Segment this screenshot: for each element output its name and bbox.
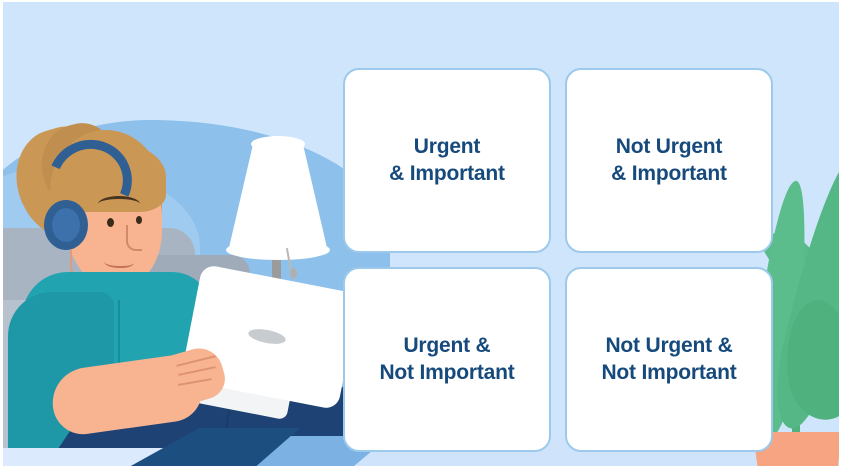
lamp-pull-knob-icon [290, 268, 297, 279]
quadrant-label: Not Urgent & Important [611, 134, 727, 187]
eisenhower-matrix: Urgent & Important Not Urgent & Importan… [343, 68, 773, 452]
frame-top [0, 0, 841, 2]
nose [126, 225, 142, 251]
quadrant-urgent-not-important[interactable]: Urgent & Not Important [343, 267, 551, 452]
quadrant-not-urgent-not-important[interactable]: Not Urgent & Not Important [565, 267, 773, 452]
eye-left [107, 218, 114, 227]
quadrant-label: Not Urgent & Not Important [601, 333, 736, 386]
lamp-shade-top-icon [251, 136, 305, 152]
quadrant-label: Urgent & Not Important [379, 333, 514, 386]
eye-right [136, 216, 142, 224]
illustration-stage: Urgent & Important Not Urgent & Importan… [0, 0, 841, 468]
quadrant-label: Urgent & Important [389, 134, 505, 187]
lamp-shade-bottom-icon [226, 240, 330, 260]
quadrant-urgent-important[interactable]: Urgent & Important [343, 68, 551, 253]
headphones-earcup-inner-icon [52, 208, 80, 242]
quadrant-not-urgent-important[interactable]: Not Urgent & Important [565, 68, 773, 253]
frame-left [0, 0, 3, 468]
